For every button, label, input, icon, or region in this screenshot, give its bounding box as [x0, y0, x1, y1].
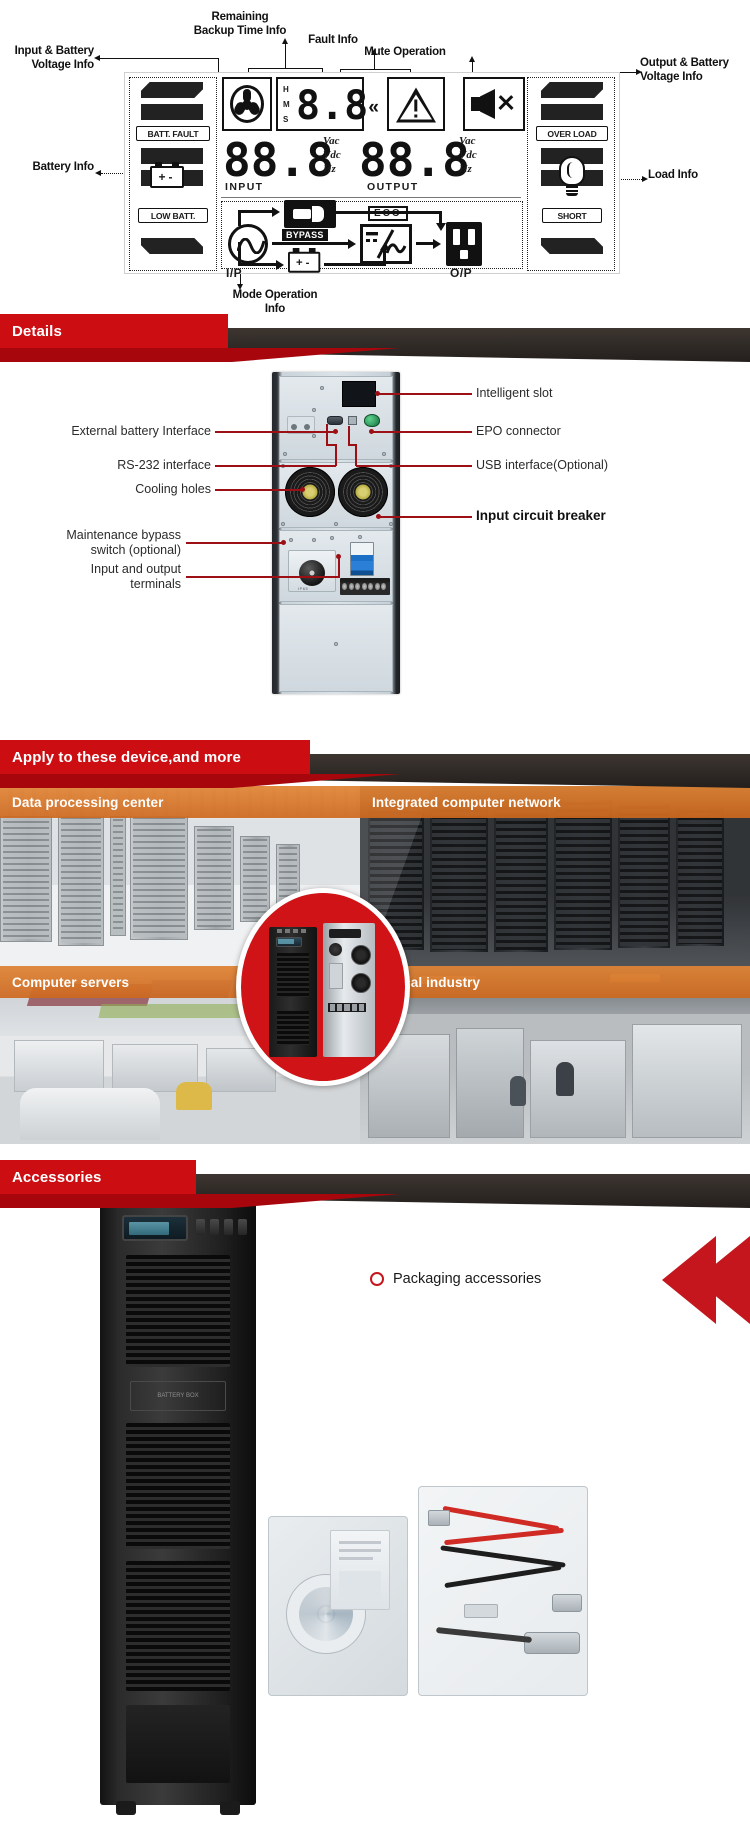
input-port-tag: I/P: [226, 266, 242, 280]
mute-cell: [463, 77, 525, 131]
bypass-label: BYPASS: [282, 229, 328, 241]
tower-battery-box-label: BATTERY BOX: [130, 1381, 226, 1411]
ups-rear-panel-image: IP65: [272, 372, 400, 694]
epo-connector: [364, 414, 380, 427]
input-unit-vdc: Vdc: [323, 149, 341, 162]
input-unit-hz: Hz: [323, 163, 336, 176]
leader-dot-cooling-holes: [300, 487, 305, 492]
leader-rs232-horiz: [215, 465, 336, 467]
label-maintenance-bypass-line2: switch (optional): [6, 543, 181, 558]
label-input-output-terminals: Input and output terminals: [6, 562, 181, 592]
callout-load-info: Load Info: [648, 168, 738, 182]
maintenance-bypass-switch: [299, 560, 325, 586]
details-section: Details IP65: [0, 314, 750, 704]
mode-flow-box: I/P BYPASS ECO: [221, 201, 523, 269]
highlight-ups-black: [269, 927, 317, 1057]
leader-arrow-load-info: [642, 176, 648, 182]
red-arrow-icon: [638, 1236, 750, 1324]
leader-dot-epo-connector: [369, 429, 374, 434]
apply-banner-tail: [0, 774, 400, 788]
input-unit-vac: Vac: [323, 135, 340, 148]
leader-epo-connector: [372, 431, 472, 433]
leader-usb-top: [348, 444, 356, 446]
label-epo-connector: EPO connector: [476, 424, 736, 439]
leader-dot-maintenance-bypass: [281, 540, 286, 545]
usb-interface: [348, 416, 357, 425]
leader-cooling-holes: [215, 489, 303, 491]
output-label: OUTPUT: [367, 181, 419, 193]
accessories-banner-tab[interactable]: Accessories: [0, 1160, 196, 1194]
power-cord-plug: [524, 1632, 580, 1654]
user-manual: [330, 1530, 390, 1610]
label-cooling-holes: Cooling holes: [6, 482, 211, 497]
callout-remaining-backup-line1: Remaining: [150, 10, 330, 24]
output-port-tag: O/P: [450, 266, 472, 280]
battery-flow-icon: +-: [288, 248, 320, 273]
leader-input-breaker: [380, 516, 472, 518]
tower-caster-left: [116, 1801, 136, 1815]
tower-vent-upper: [126, 1255, 230, 1367]
leader-arrow-input-batt: [94, 55, 100, 61]
backup-time-cell: H M S 8.8 «: [276, 77, 364, 131]
bypass-plug-icon: [284, 200, 336, 228]
lcd-display-frame: BATT. FAULT LOW BATT. +- OVER LOAD SHORT: [124, 72, 620, 274]
callout-output-battery-line2: Voltage Info: [640, 70, 746, 84]
accessories-banner-title: Accessories: [12, 1169, 102, 1186]
load-bulb-icon: [559, 156, 585, 196]
fault-warning-cell: [387, 77, 445, 131]
details-banner-tail: [0, 348, 400, 362]
output-unit-vac: Vac: [459, 135, 476, 148]
highlight-ups-silver: [323, 923, 375, 1057]
cable-tag: [464, 1604, 498, 1618]
leader-arrow-mode-info: [237, 284, 243, 290]
packaging-accessories-callout: Packaging accessories: [370, 1271, 541, 1287]
leader-arrow-backup: [282, 38, 288, 44]
accessories-parts-group: [268, 1482, 598, 1762]
leader-rs232-up: [326, 424, 328, 444]
label-rs232-interface: RS-232 interface: [6, 458, 211, 473]
cooling-fan-right: [338, 467, 388, 517]
warning-triangle-icon: [396, 88, 436, 123]
input-voltage-digits: 88.8: [223, 135, 334, 185]
output-unit-hz: Hz: [459, 163, 472, 176]
backup-time-digits: 8.8: [296, 84, 368, 128]
lcd-tag-low-batt: LOW BATT.: [138, 208, 208, 223]
label-input-output-line2: terminals: [6, 577, 181, 592]
callout-input-battery-line1: Input & Battery: [6, 44, 94, 58]
leader-io-terminals-horiz: [186, 576, 340, 578]
lcd-tag-batt-fault: BATT. FAULT: [136, 126, 210, 141]
fan-icon: [230, 85, 264, 123]
apply-banner-tab[interactable]: Apply to these device,and more: [0, 740, 310, 774]
apply-banner-title: Apply to these device,and more: [12, 749, 241, 766]
battery-icon: +-: [150, 162, 184, 188]
tower-caster-right: [220, 1801, 240, 1815]
cable-connector-left: [428, 1510, 450, 1526]
leader-rs232-vert: [335, 444, 337, 466]
bullet-circle-icon: [370, 1272, 384, 1286]
leader-dot-intelligent-slot: [375, 391, 380, 396]
accessories-banner-tail: [0, 1194, 400, 1208]
label-external-battery-interface: External battery Interface: [6, 424, 211, 439]
leader-usb-horiz: [356, 465, 472, 467]
callout-mute-operation: Mute Operation: [340, 45, 470, 59]
leader-line-fault-horiz: [340, 69, 410, 70]
details-banner-title: Details: [12, 323, 62, 340]
leader-dot-external-battery: [333, 429, 338, 434]
rs232-interface: [327, 416, 343, 425]
leader-arrow-fault: [371, 49, 377, 55]
output-unit-vdc: Vdc: [459, 149, 477, 162]
callout-input-battery-line2: Voltage Info: [6, 58, 94, 72]
cooling-fan-left: [285, 467, 335, 517]
callout-input-battery-voltage: Input & Battery Voltage Info: [6, 44, 94, 72]
callout-output-battery-voltage: Output & Battery Voltage Info: [640, 56, 746, 84]
leader-external-battery: [215, 431, 335, 433]
callout-output-battery-line1: Output & Battery: [640, 56, 746, 70]
details-banner-tab[interactable]: Details: [0, 314, 228, 348]
accessories-banner: Accessories: [0, 1160, 750, 1222]
label-input-output-line1: Input and output: [6, 562, 181, 577]
leader-dot-io-terminals: [336, 554, 341, 559]
mute-speaker-icon: [471, 89, 517, 119]
leader-intelligent-slot: [378, 393, 472, 395]
photo-medical-industry: Medical industry: [360, 966, 750, 1144]
leader-arrow-output-batt: [636, 69, 642, 75]
packaging-accessories-label: Packaging accessories: [393, 1271, 541, 1287]
fan-status-icon-cell: [222, 77, 272, 131]
tower-vent-lower: [126, 1561, 230, 1691]
hms-m-label: M: [283, 100, 290, 109]
lcd-tag-short: SHORT: [542, 208, 602, 223]
tower-vent-mid: [126, 1423, 230, 1549]
callout-mode-operation-info: Mode Operation Info: [190, 288, 360, 316]
input-label: INPUT: [225, 181, 264, 193]
leader-usb-vert: [355, 444, 357, 466]
output-voltage-digits: 88.8: [359, 135, 470, 185]
tower-ups-image: 维谛科技 BATTERY BOX: [100, 1185, 256, 1805]
leader-io-terminals-vert: [338, 557, 340, 577]
ac-input-icon: [228, 224, 268, 264]
lcd-separator: [221, 197, 521, 198]
accessories-section: Accessories 维谛科技 BATTERY BOX Packaging a…: [0, 1160, 750, 1848]
label-maintenance-bypass-line1: Maintenance bypass: [6, 528, 181, 543]
photo-integrated-computer-network: Integrated computer network: [360, 786, 750, 966]
apply-banner: Apply to these device,and more: [0, 740, 750, 802]
load-level-column: OVER LOAD SHORT: [527, 77, 615, 271]
caption-medical-industry: Medical industry: [360, 966, 750, 998]
input-circuit-breaker: [350, 542, 374, 576]
leader-usb-up: [348, 426, 350, 444]
label-input-circuit-breaker: Input circuit breaker: [476, 508, 744, 524]
leader-arrow-mute: [469, 56, 475, 62]
leader-arrow-battery-info: [95, 170, 101, 176]
lcd-panel-diagram-section: Remaining Backup Time Info Fault Info Mu…: [0, 0, 750, 308]
apply-section: Apply to these device,and more Data proc…: [0, 740, 750, 1144]
label-intelligent-slot: Intelligent slot: [476, 386, 736, 401]
leader-line-backup-vert: [285, 44, 286, 68]
input-output-terminals: [340, 578, 390, 595]
rear-blank-plate: [279, 604, 393, 692]
battery-level-column: BATT. FAULT LOW BATT. +-: [129, 77, 217, 271]
label-maintenance-bypass: Maintenance bypass switch (optional): [6, 528, 181, 558]
callout-mode-operation-line1: Mode Operation: [190, 288, 360, 302]
lcd-tag-over-load: OVER LOAD: [536, 126, 608, 141]
leader-maintenance-bypass: [186, 542, 284, 544]
backup-chevrons-icon: «: [368, 97, 379, 119]
product-highlight-circle: [236, 888, 410, 1086]
db9-connector: [552, 1594, 582, 1612]
details-banner: Details: [0, 314, 750, 376]
leader-dot-input-breaker: [376, 514, 381, 519]
leader-rs232-top: [326, 444, 336, 446]
leader-line-backup-horiz: [248, 68, 322, 69]
output-outlet-icon: [446, 222, 482, 266]
callout-battery-info: Battery Info: [10, 160, 94, 174]
hms-s-label: S: [283, 115, 288, 124]
label-usb-interface: USB interface(Optional): [476, 458, 738, 473]
leader-line-fault-vert: [374, 55, 375, 69]
intelligent-slot: [342, 381, 376, 407]
hms-h-label: H: [283, 85, 289, 94]
leader-line-input-batt-horiz: [100, 58, 218, 59]
